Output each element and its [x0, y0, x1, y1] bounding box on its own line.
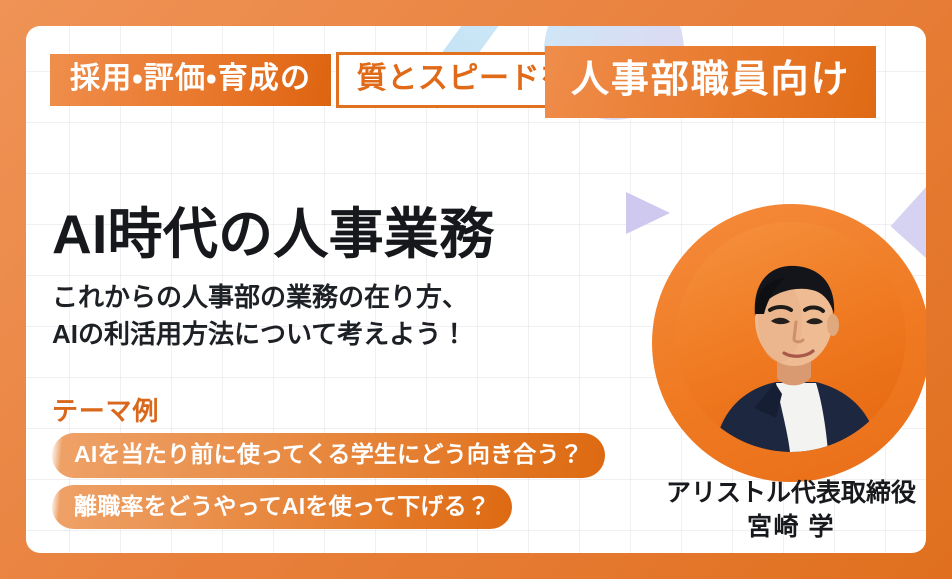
poster-root: 採用・評価・育成の 質とスピードをAIで変革！ 人事部職員向け AI時代の人事業…	[0, 0, 952, 579]
badge-primary: 採用・評価・育成の	[50, 54, 331, 106]
white-card: 採用・評価・育成の 質とスピードをAIで変革！ 人事部職員向け AI時代の人事業…	[26, 26, 926, 553]
theme-label: テーマ例	[52, 396, 652, 427]
page-subtitle: これからの人事部の業務の在り方、 AIの利活用方法について考えよう！	[52, 279, 652, 354]
title-block: AI時代の人事業務 これからの人事部の業務の在り方、 AIの利活用方法について考…	[52, 204, 652, 354]
purple-rotated-square-icon	[891, 182, 926, 267]
speaker-info: アリストル代表取締役 宮崎 学	[636, 478, 926, 544]
theme-pill: AIを当たり前に使ってくる学生にどう向き合う？	[52, 433, 605, 477]
theme-section: テーマ例 AIを当たり前に使ってくる学生にどう向き合う？ 離職率をどうやってAI…	[52, 396, 652, 536]
theme-pill: 離職率をどうやってAIを使って下げる？	[52, 485, 512, 529]
theme-pill-list: AIを当たり前に使ってくる学生にどう向き合う？ 離職率をどうやってAIを使って下…	[52, 433, 652, 536]
speaker-portrait-avatar	[676, 222, 906, 452]
page-title: AI時代の人事業務	[52, 204, 652, 265]
speaker-role: アリストル代表取締役	[636, 478, 926, 509]
speaker-name: 宮崎 学	[636, 511, 926, 544]
audience-badge: 人事部職員向け	[545, 46, 876, 118]
